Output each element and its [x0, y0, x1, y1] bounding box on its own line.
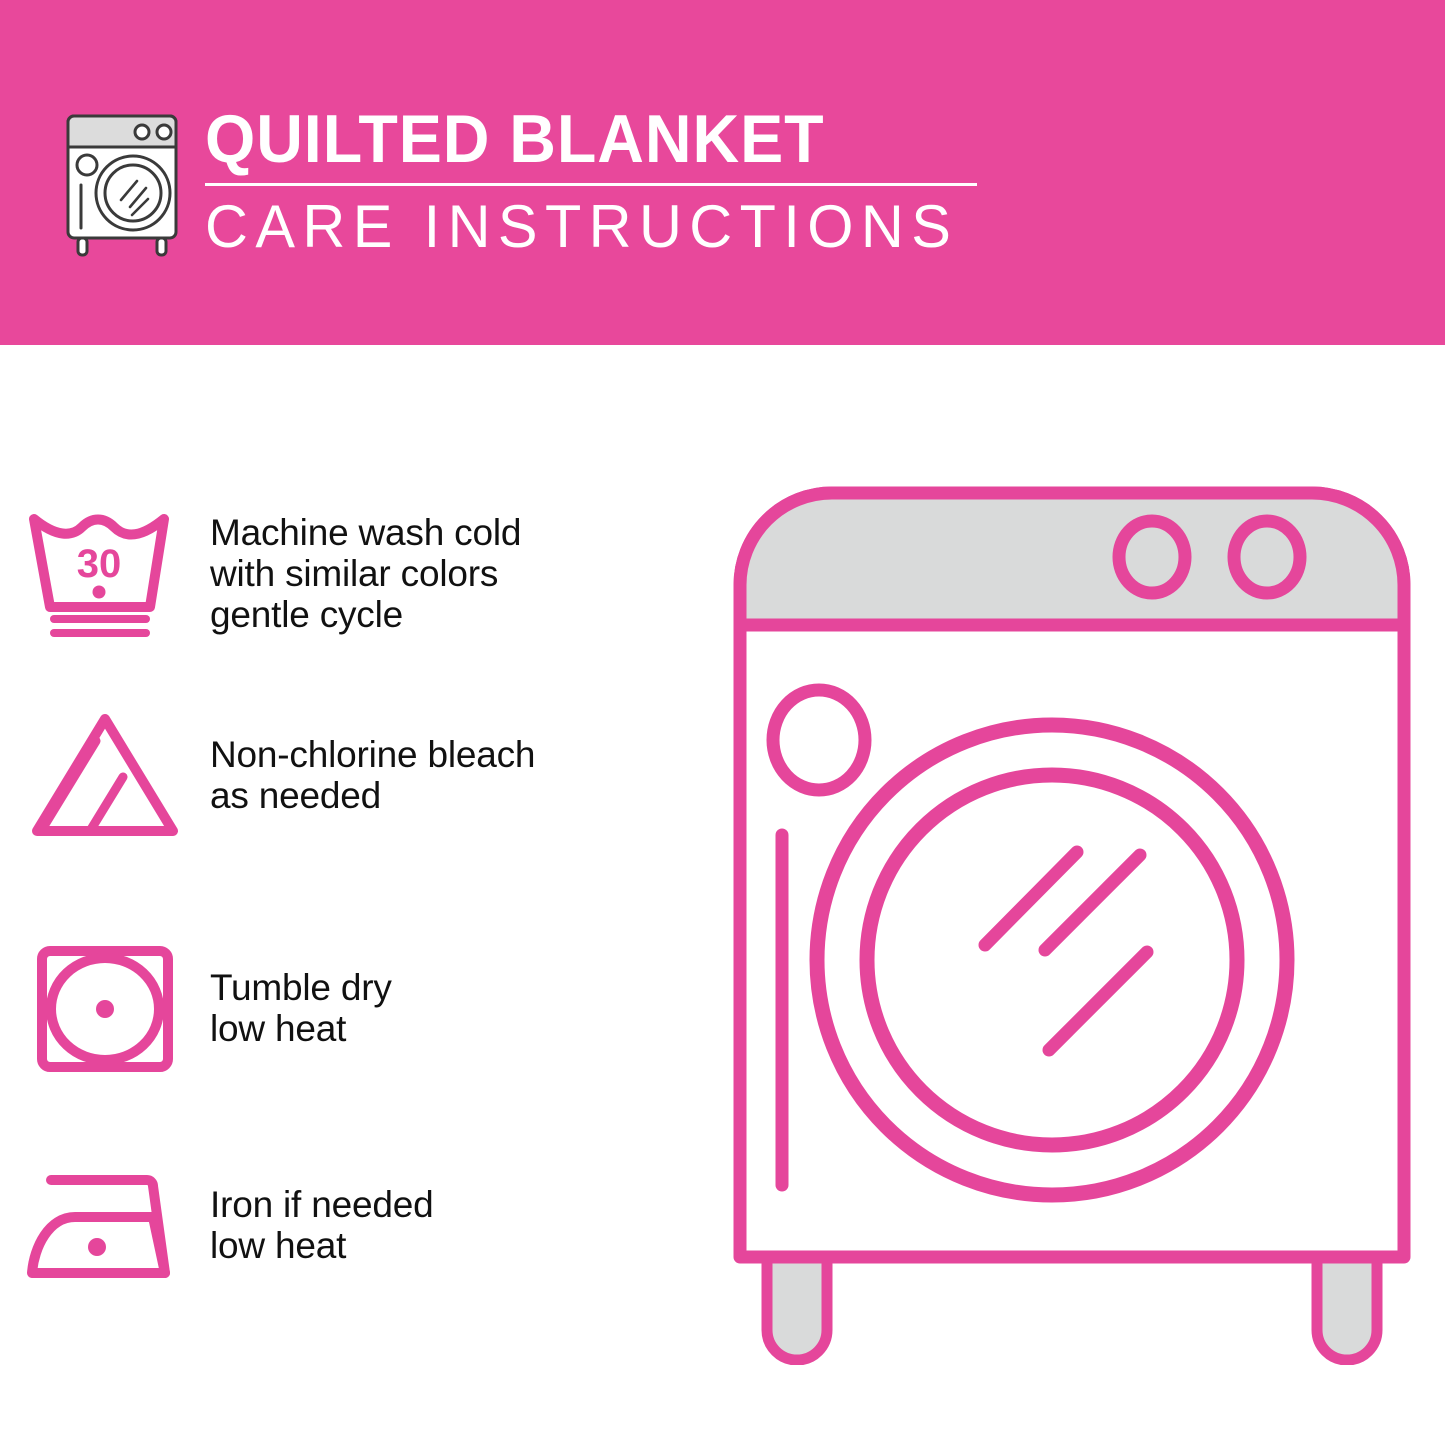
care-text-line: as needed: [210, 775, 722, 816]
care-symbol-iron: [0, 1155, 210, 1295]
care-text-line: Tumble dry: [210, 967, 722, 1008]
care-text-iron: Iron if needed low heat: [210, 1184, 722, 1266]
care-symbol-bleach: [0, 705, 210, 845]
care-row-bleach: Non-chlorine bleach as needed: [0, 695, 722, 855]
wash-temperature-label: 30: [77, 542, 122, 586]
machine-wash-30-gentle-icon: 30: [20, 503, 190, 643]
care-row-iron: Iron if needed low heat: [0, 1145, 722, 1305]
care-text-line: gentle cycle: [210, 594, 722, 635]
care-instructions-infographic: QUILTED BLANKET CARE INSTRUCTIONS 30: [0, 0, 1445, 1445]
tumble-dry-low-icon: [20, 933, 190, 1083]
care-text-wash: Machine wash cold with similar colors ge…: [210, 512, 722, 635]
care-text-dry: Tumble dry low heat: [210, 967, 722, 1049]
care-text-line: Non-chlorine bleach: [210, 734, 722, 775]
care-text-line: low heat: [210, 1225, 722, 1266]
care-instruction-list: 30 Machine wash cold with similar colors…: [0, 345, 722, 1445]
care-symbol-wash: 30: [0, 503, 210, 643]
care-row-wash: 30 Machine wash cold with similar colors…: [0, 488, 722, 658]
care-text-line: with similar colors: [210, 553, 722, 594]
tumble-dry-dot-icon: [96, 1000, 114, 1018]
machine-foot-left: [767, 1255, 827, 1360]
page-title: QUILTED BLANKET: [205, 104, 956, 174]
gentle-bar-1: [50, 615, 150, 623]
machine-foot-right: [1317, 1255, 1377, 1360]
iron-dot-icon: [88, 1238, 106, 1256]
page-subtitle: CARE INSTRUCTIONS: [205, 196, 987, 258]
header-banner: QUILTED BLANKET CARE INSTRUCTIONS: [0, 0, 1445, 345]
care-symbol-tumble-dry: [0, 933, 210, 1083]
front-load-washing-machine-illustration: [722, 465, 1422, 1365]
title-divider: [205, 183, 977, 186]
washing-machine-icon: [58, 103, 193, 258]
non-chlorine-bleach-triangle-icon: [20, 705, 190, 845]
care-text-line: Machine wash cold: [210, 512, 722, 553]
iron-low-heat-icon: [15, 1155, 195, 1295]
care-text-line: low heat: [210, 1008, 722, 1049]
gentle-bar-2: [50, 629, 150, 637]
header-text-block: QUILTED BLANKET CARE INSTRUCTIONS: [205, 104, 995, 258]
wash-dot-icon: [93, 586, 106, 599]
care-text-bleach: Non-chlorine bleach as needed: [210, 734, 722, 816]
care-row-dry: Tumble dry low heat: [0, 923, 722, 1093]
care-text-line: Iron if needed: [210, 1184, 722, 1225]
